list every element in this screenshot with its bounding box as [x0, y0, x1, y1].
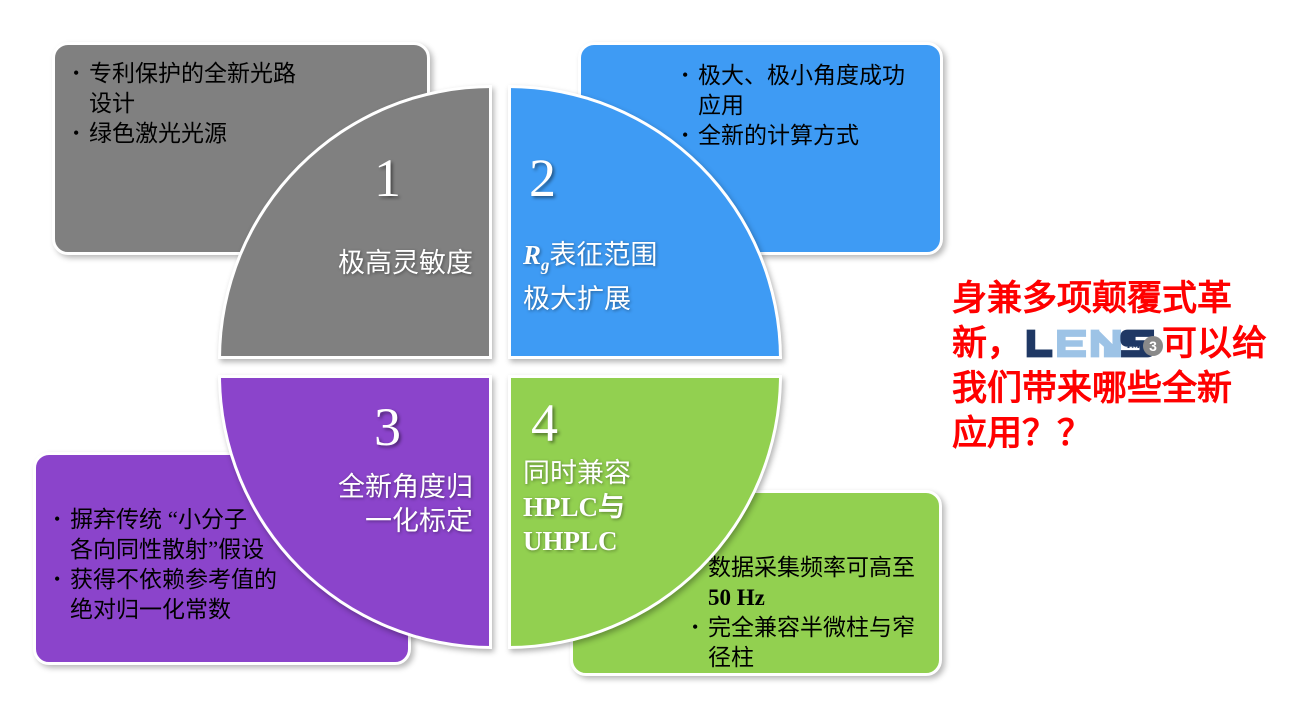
question-line-2: 新， TM 3 可以给: [952, 321, 1300, 366]
center-circle: 1 极高灵敏度 2 Rg表征范围 极大扩展 3 全新角度归 一化标定 4 同时兼…: [218, 85, 782, 649]
slide-canvas: 专利保护的全新光路 设计 绿色激光光源 极大、极小角度成功 应用 全新的计算方式…: [0, 0, 1312, 702]
quadrant-label-cn: 同时兼容: [523, 458, 631, 488]
question-text-block: 身兼多项颠覆式革 新， TM 3 可以给 我们带来哪些全新 应用？？: [952, 276, 1300, 456]
quadrant-number: 1: [374, 151, 401, 205]
rg-symbol: Rg: [523, 240, 549, 270]
circle-quadrant-2: 2 Rg表征范围 极大扩展: [508, 85, 782, 359]
circle-quadrant-3: 3 全新角度归 一化标定: [218, 375, 492, 649]
rg-base: R: [523, 240, 541, 270]
quadrant-label-en: HPLC与 UHPLC: [523, 492, 625, 556]
quadrant-number: 3: [374, 400, 401, 454]
circle-quadrant-1: 1 极高灵敏度: [218, 85, 492, 359]
quadrant-label: 全新角度归 一化标定: [338, 470, 473, 538]
question-line-1: 身兼多项颠覆式革: [952, 276, 1300, 321]
quadrant-number: 2: [529, 151, 556, 205]
trademark-mark: TM: [1126, 323, 1141, 368]
quadrant-number: 4: [531, 396, 558, 450]
quadrant-label: Rg表征范围 极大扩展: [523, 238, 657, 316]
question-line-2-after: 可以给: [1162, 324, 1267, 363]
logo-superscript-badge: 3: [1143, 336, 1163, 356]
question-line-3: 我们带来哪些全新: [952, 366, 1300, 411]
quadrant-label: 极高灵敏度: [338, 246, 473, 280]
lens3-logo: TM 3: [1022, 327, 1162, 359]
quadrant-label: 同时兼容HPLC与 UHPLC: [523, 456, 631, 558]
question-line-2-before: 新，: [952, 324, 1022, 363]
question-line-4: 应用？？: [952, 411, 1300, 456]
circle-quadrant-4: 4 同时兼容HPLC与 UHPLC: [508, 375, 782, 649]
